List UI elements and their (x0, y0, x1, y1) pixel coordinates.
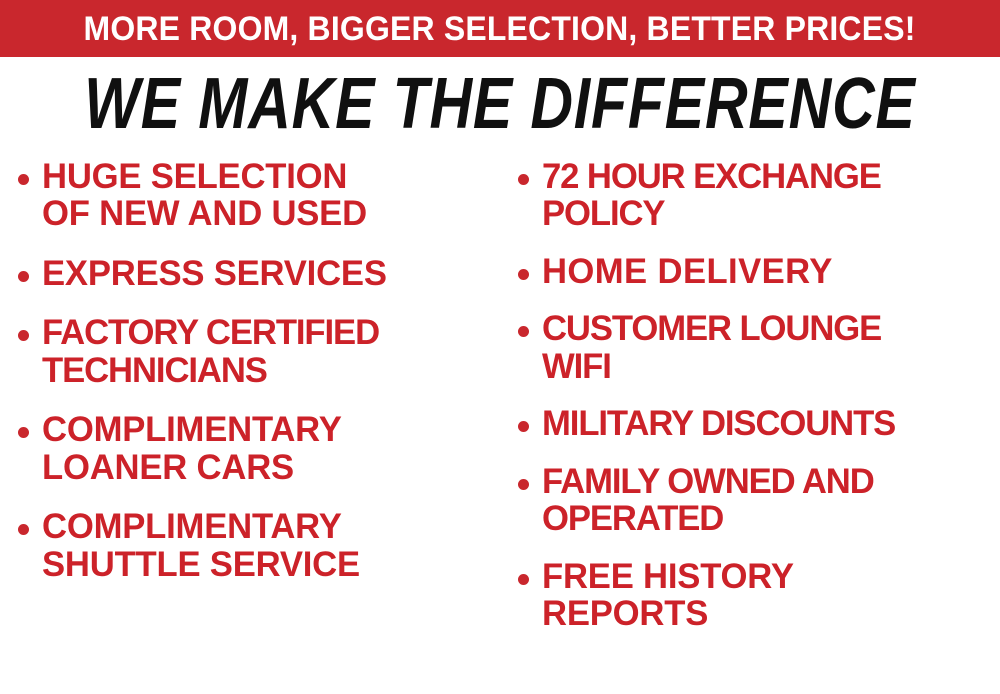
benefits-column-right: 72 HOUR EXCHANGE POLICY HOME DELIVERY CU… (518, 158, 1000, 694)
list-item: COMPLIMENTARY LOANER CARS (18, 411, 500, 486)
bullet-dot-icon (518, 421, 529, 432)
list-item: FACTORY CERTIFIED TECHNICIANS (18, 314, 500, 389)
list-item: 72 HOUR EXCHANGE POLICY (518, 158, 1000, 233)
list-item: HUGE SELECTION OF NEW AND USED (18, 158, 500, 233)
bullet-dot-icon (518, 326, 529, 337)
list-item: FREE HISTORY REPORTS (518, 558, 1000, 633)
bullet-dot-icon (518, 479, 529, 490)
benefit-label: MILITARY DISCOUNTS (542, 405, 1000, 442)
benefit-label: COMPLIMENTARY LOANER CARS (42, 411, 495, 486)
bullet-dot-icon (18, 427, 29, 438)
bullet-dot-icon (18, 174, 29, 185)
benefit-label: FACTORY CERTIFIED TECHNICIANS (42, 314, 495, 389)
benefit-label: HOME DELIVERY (542, 253, 1000, 290)
top-ribbon: MORE ROOM, BIGGER SELECTION, BETTER PRIC… (0, 0, 1000, 57)
bullet-dot-icon (518, 574, 529, 585)
ribbon-headline: MORE ROOM, BIGGER SELECTION, BETTER PRIC… (84, 12, 916, 46)
benefit-label: FAMILY OWNED AND OPERATED (542, 463, 1000, 538)
list-item: MILITARY DISCOUNTS (518, 405, 1000, 442)
benefit-label: COMPLIMENTARY SHUTTLE SERVICE (42, 508, 495, 583)
bullet-dot-icon (18, 271, 29, 282)
benefit-label: 72 HOUR EXCHANGE POLICY (542, 158, 1000, 233)
benefit-label: FREE HISTORY REPORTS (542, 558, 1000, 633)
bullet-dot-icon (518, 174, 529, 185)
list-item: EXPRESS SERVICES (18, 255, 500, 292)
list-item: CUSTOMER LOUNGE WIFI (518, 310, 1000, 385)
benefits-column-left: HUGE SELECTION OF NEW AND USED EXPRESS S… (18, 158, 500, 694)
benefits-columns: HUGE SELECTION OF NEW AND USED EXPRESS S… (0, 158, 1000, 694)
bullet-dot-icon (18, 330, 29, 341)
promotional-banner: MORE ROOM, BIGGER SELECTION, BETTER PRIC… (0, 0, 1000, 694)
bullet-dot-icon (518, 269, 529, 280)
headline-area: WE MAKE THE DIFFERENCE (0, 68, 1000, 140)
list-item: COMPLIMENTARY SHUTTLE SERVICE (18, 508, 500, 583)
benefit-label: HUGE SELECTION OF NEW AND USED (42, 158, 495, 233)
list-item: FAMILY OWNED AND OPERATED (518, 463, 1000, 538)
bullet-dot-icon (18, 524, 29, 535)
list-item: HOME DELIVERY (518, 253, 1000, 290)
page-title: WE MAKE THE DIFFERENCE (84, 68, 915, 140)
benefit-label: CUSTOMER LOUNGE WIFI (542, 310, 1000, 385)
benefit-label: EXPRESS SERVICES (42, 255, 495, 292)
